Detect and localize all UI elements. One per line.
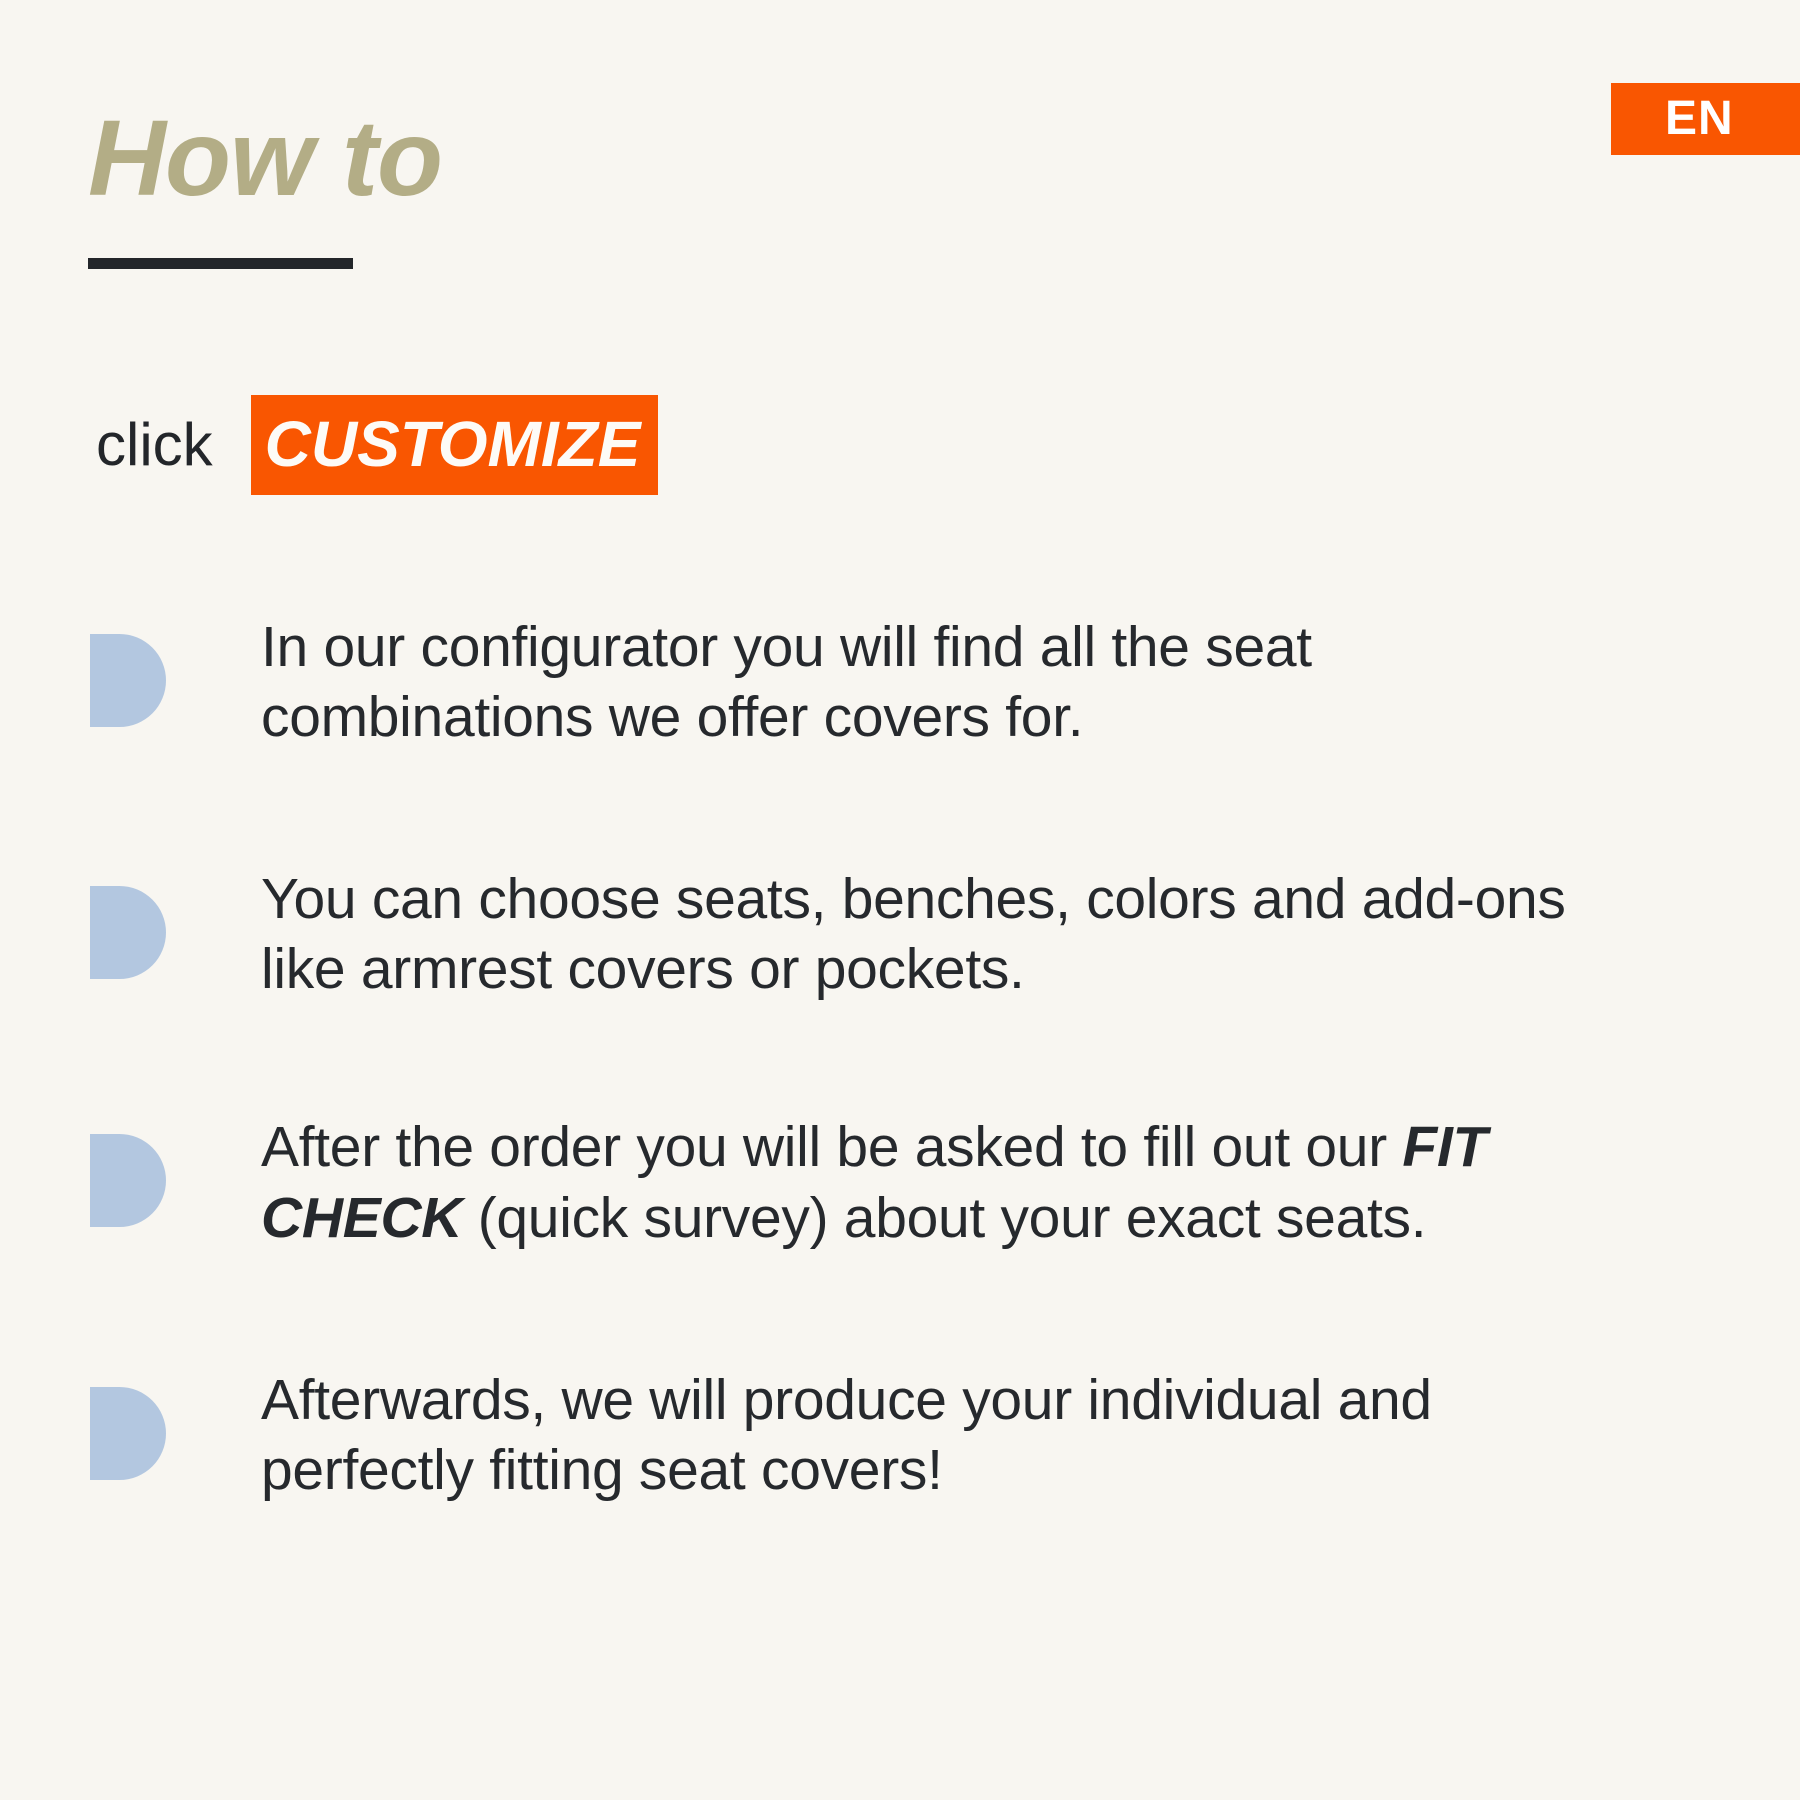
list-item-text: After the order you will be asked to fil… [261,1112,1650,1252]
list-item: Afterwards, we will produce your individ… [90,1365,1650,1505]
bullet-marker-icon [90,1387,166,1480]
language-badge[interactable]: EN [1611,83,1800,155]
how-to-card: EN How to click CUSTOMIZE In our configu… [0,0,1800,1800]
cta-instruction-line: click CUSTOMIZE [96,398,658,492]
title-underline-rule [88,258,353,269]
heading-block: How to [88,104,442,269]
list-item-text: In our configurator you will find all th… [261,612,1650,752]
list-item: You can choose seats, benches, colors an… [90,864,1650,1004]
list-item-text-part: In our configurator you will find all th… [261,615,1312,749]
steps-list: In our configurator you will find all th… [90,612,1650,1505]
list-item: After the order you will be asked to fil… [90,1112,1650,1252]
bullet-marker-icon [90,634,166,727]
bullet-marker-icon [90,1134,166,1227]
bullet-marker-icon [90,886,166,979]
list-item-text-part: You can choose seats, benches, colors an… [261,867,1566,1001]
cta-prefix-label: click [96,415,213,475]
list-item-text-part: (quick survey) about your exact seats. [462,1186,1426,1250]
list-item-text-part: Afterwards, we will produce your individ… [261,1368,1432,1502]
customize-button-highlight[interactable]: CUSTOMIZE [251,395,659,495]
list-item-text: Afterwards, we will produce your individ… [261,1365,1650,1505]
page-title: How to [88,104,442,212]
list-item: In our configurator you will find all th… [90,612,1650,752]
list-item-text-part: After the order you will be asked to fil… [261,1115,1402,1179]
language-badge-label: EN [1665,95,1734,143]
list-item-text: You can choose seats, benches, colors an… [261,864,1650,1004]
